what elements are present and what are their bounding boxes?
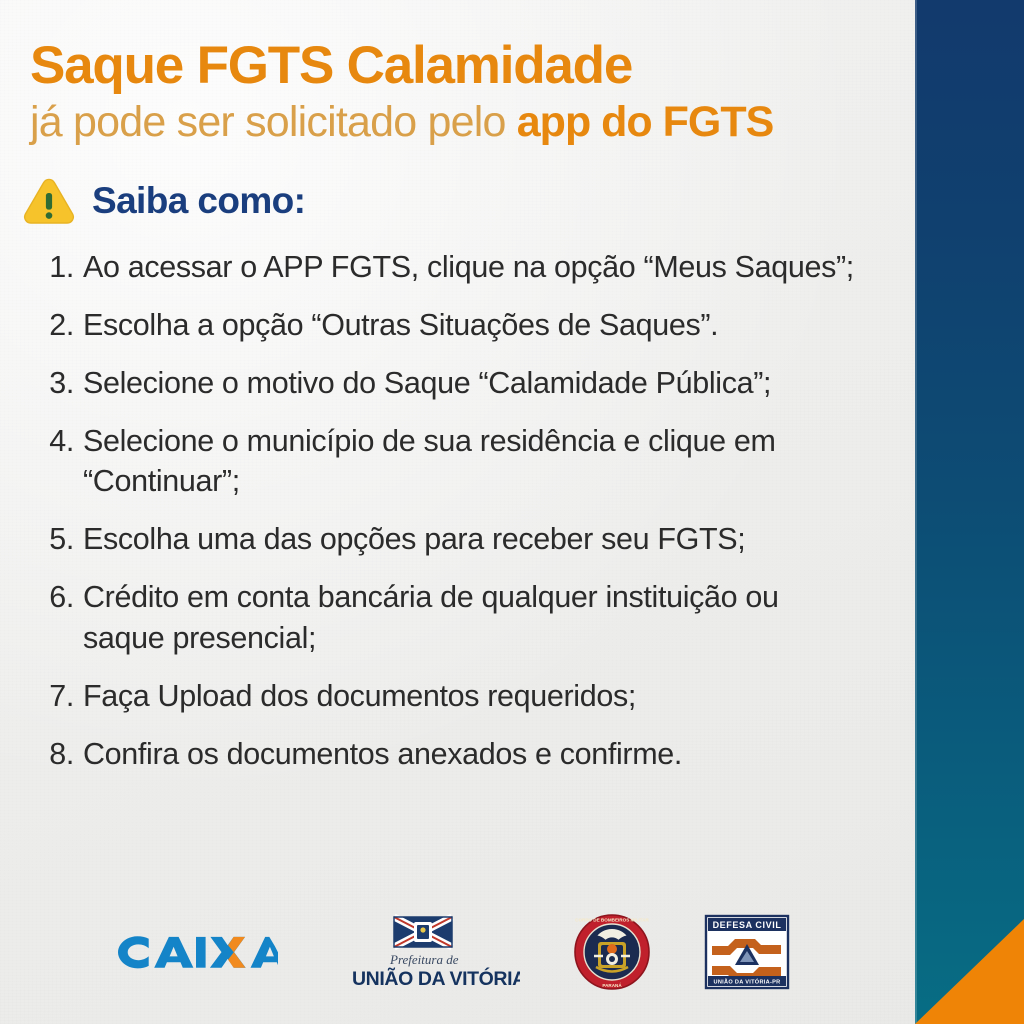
headline-block: Saque FGTS Calamidade já pode ser solici…: [30, 38, 890, 146]
logo-strip: Prefeitura de UNIÃO DA VITÓRIA CORPO DE …: [0, 902, 900, 1002]
step-text: Crédito em conta bancária de qualquer in…: [83, 577, 864, 659]
bombeiros-ring-text-top: CORPO DE BOMBEIROS MILITAR: [575, 918, 649, 923]
list-item: 2. Escolha a opção “Outras Situações de …: [34, 305, 864, 346]
defesa-civil-logo: DEFESA CIVIL UNIÃO DA VITÓRIA-PR: [704, 914, 790, 990]
list-item: 4. Selecione o município de sua residênc…: [34, 421, 864, 503]
poster-canvas: Saque FGTS Calamidade já pode ser solici…: [0, 0, 1024, 1024]
list-item: 1. Ao acessar o APP FGTS, clique na opçã…: [34, 247, 864, 288]
side-decoration-panel: [915, 0, 1024, 1024]
poster-subtitle-strong: app do FGTS: [517, 98, 774, 146]
warning-triangle-icon: [22, 176, 76, 224]
step-text: Ao acessar o APP FGTS, clique na opção “…: [83, 247, 864, 288]
poster-subtitle-regular: já pode ser solicitado pelo: [30, 98, 517, 146]
poster-title: Saque FGTS Calamidade: [30, 38, 890, 94]
list-item: 5. Escolha uma das opções para receber s…: [34, 519, 864, 560]
step-text: Escolha uma das opções para receber seu …: [83, 519, 864, 560]
step-text: Escolha a opção “Outras Situações de Saq…: [83, 305, 864, 346]
corpo-de-bombeiros-parana-logo: CORPO DE BOMBEIROS MILITAR PARANÁ: [572, 912, 652, 992]
step-number: 8.: [34, 734, 83, 775]
step-number: 2.: [34, 305, 83, 346]
step-text: Selecione o motivo do Saque “Calamidade …: [83, 363, 864, 404]
step-text: Faça Upload dos documentos requeridos;: [83, 676, 864, 717]
saiba-como-heading: Saiba como:: [22, 176, 305, 224]
poster-subtitle: já pode ser solicitado pelo app do FGTS: [30, 98, 890, 146]
step-number: 6.: [34, 577, 83, 618]
step-number: 5.: [34, 519, 83, 560]
list-item: 6. Crédito em conta bancária de qualquer…: [34, 577, 864, 659]
step-number: 7.: [34, 676, 83, 717]
step-text: Confira os documentos anexados e confirm…: [83, 734, 864, 775]
defesa-civil-subtitle: UNIÃO DA VITÓRIA-PR: [713, 978, 780, 986]
step-number: 1.: [34, 247, 83, 288]
step-number: 4.: [34, 421, 83, 462]
prefeitura-small-label: Prefeitura de: [389, 952, 459, 967]
uniao-da-vitoria-flag-icon: [394, 917, 452, 947]
prefeitura-uniao-da-vitoria-logo: Prefeitura de UNIÃO DA VITÓRIA: [330, 913, 520, 991]
panel-edge-highlight: [915, 0, 917, 1024]
list-item: 8. Confira os documentos anexados e conf…: [34, 734, 864, 775]
orange-corner-wedge: [915, 919, 1024, 1024]
step-number: 3.: [34, 363, 83, 404]
steps-list: 1. Ao acessar o APP FGTS, clique na opçã…: [34, 247, 864, 792]
saiba-como-label: Saiba como:: [92, 182, 305, 219]
bombeiros-ring-text-bottom: PARANÁ: [602, 982, 622, 988]
list-item: 7. Faça Upload dos documentos requeridos…: [34, 676, 864, 717]
list-item: 3. Selecione o motivo do Saque “Calamida…: [34, 363, 864, 404]
prefeitura-main-label: UNIÃO DA VITÓRIA: [352, 966, 520, 990]
step-text: Selecione o município de sua residência …: [83, 421, 864, 503]
caixa-logo: [110, 929, 278, 975]
defesa-civil-title: DEFESA CIVIL: [713, 920, 782, 930]
